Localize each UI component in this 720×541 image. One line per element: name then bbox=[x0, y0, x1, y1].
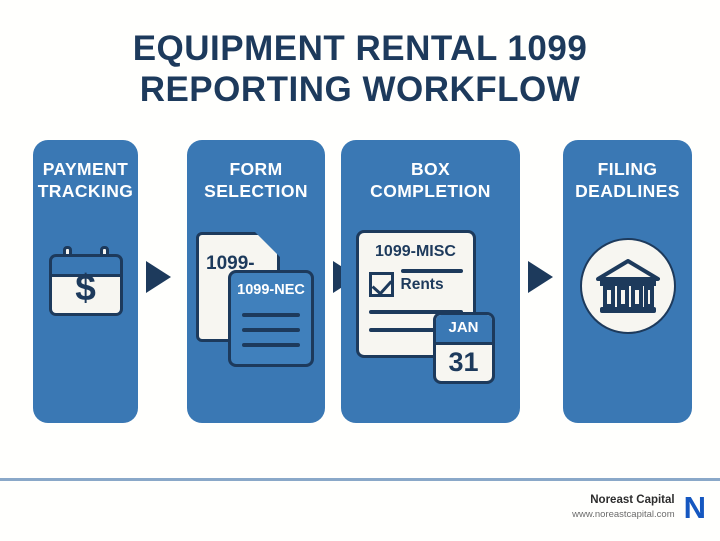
calendar-month-label: JAN bbox=[436, 315, 492, 345]
bank-building-glyph bbox=[596, 259, 660, 315]
brand-url[interactable]: www.noreastcapital.com bbox=[572, 508, 674, 522]
page-title-line-1: EQUIPMENT RENTAL 1099 bbox=[0, 28, 720, 69]
bank-building-icon bbox=[580, 238, 676, 334]
workflow-step-box-completion[interactable]: BOX COMPLETION 1099-MISC Rents JAN 31 bbox=[341, 140, 520, 423]
workflow-diagram: PAYMENT TRACKING $ FORM SELECTION bbox=[0, 140, 720, 423]
step-title-line-2: SELECTION bbox=[187, 180, 325, 202]
arrow-right-icon bbox=[528, 261, 553, 293]
footer-text-block: Noreast Capital www.noreastcapital.com bbox=[572, 493, 674, 522]
calendar-day-label: 31 bbox=[436, 343, 492, 381]
workflow-step-filing-deadlines[interactable]: FILING DEADLINES bbox=[563, 140, 692, 423]
document-front-label: 1099-NEC bbox=[231, 282, 311, 298]
form-1099-misc-label: 1099-MISC bbox=[359, 243, 473, 261]
workflow-step-form-selection[interactable]: FORM SELECTION 1099- 1099-NEC bbox=[187, 140, 325, 423]
step-title-line-2: TRACKING bbox=[33, 180, 138, 202]
step-title-line-1: FORM bbox=[187, 158, 325, 180]
page-title-line-2: REPORTING WORKFLOW bbox=[0, 69, 720, 110]
workflow-step-payment-tracking[interactable]: PAYMENT TRACKING $ bbox=[33, 140, 138, 423]
step-title-form-selection: FORM SELECTION bbox=[187, 158, 325, 202]
step-title-line-2: DEADLINES bbox=[563, 180, 692, 202]
step-title-filing-deadlines: FILING DEADLINES bbox=[563, 158, 692, 202]
rents-checkbox[interactable] bbox=[369, 272, 394, 297]
document-front-1099-nec: 1099-NEC bbox=[228, 270, 314, 367]
checkmark-icon bbox=[371, 274, 392, 295]
footer-divider bbox=[0, 478, 720, 481]
step-icon-area: $ bbox=[33, 218, 138, 423]
step-icon-area bbox=[563, 218, 692, 423]
document-text-line bbox=[242, 328, 300, 332]
step-title-line-1: BOX bbox=[341, 158, 520, 180]
brand-name: Noreast Capital bbox=[572, 493, 674, 508]
footer: Noreast Capital www.noreastcapital.com N bbox=[572, 492, 706, 523]
calendar-dollar-icon: $ bbox=[49, 246, 123, 316]
step-title-box-completion: BOX COMPLETION bbox=[341, 158, 520, 202]
step-icon-area: 1099-MISC Rents JAN 31 bbox=[341, 218, 520, 423]
arrow-right-icon bbox=[146, 261, 171, 293]
rents-checkbox-label: Rents bbox=[401, 276, 444, 294]
step-title-line-1: FILING bbox=[563, 158, 692, 180]
step-title-line-1: PAYMENT bbox=[33, 158, 138, 180]
page-fold-corner-icon bbox=[255, 232, 280, 257]
form-text-line bbox=[369, 328, 435, 332]
step-icon-area: 1099- 1099-NEC bbox=[187, 218, 325, 423]
deadline-calendar-badge: JAN 31 bbox=[433, 312, 495, 384]
step-title-payment-tracking: PAYMENT TRACKING bbox=[33, 158, 138, 202]
document-stack-icon: 1099- 1099-NEC bbox=[196, 232, 316, 372]
page-title: EQUIPMENT RENTAL 1099 REPORTING WORKFLOW bbox=[0, 28, 720, 110]
document-text-line bbox=[242, 343, 300, 347]
form-checkbox-icon: 1099-MISC Rents JAN 31 bbox=[356, 230, 506, 390]
form-text-line bbox=[401, 269, 463, 273]
dollar-sign-glyph: $ bbox=[49, 268, 123, 308]
brand-logo-icon: N bbox=[684, 492, 706, 523]
document-text-line bbox=[242, 313, 300, 317]
step-title-line-2: COMPLETION bbox=[341, 180, 520, 202]
